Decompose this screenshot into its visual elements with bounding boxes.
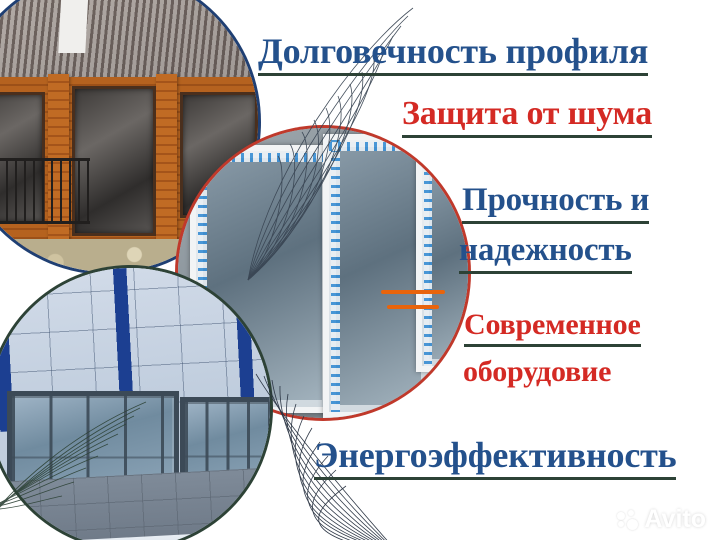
slogan-strength: Прочность и [462, 184, 649, 224]
slogan-underline [462, 221, 649, 224]
slogan-modern: Современное [464, 310, 641, 347]
log-corner-post [156, 74, 177, 248]
veka-protective-film [424, 163, 432, 366]
advertisement-poster: Долговечность профиля Защита от шума Про… [0, 0, 720, 540]
slogan-underline [402, 135, 652, 138]
veka-protective-film [331, 140, 340, 413]
veka-protective-film [196, 153, 329, 162]
avito-watermark-label: Avito [644, 507, 706, 532]
slogan-durability-text: Долговечность профиля [258, 31, 648, 71]
slogan-reliability: надежность [459, 234, 632, 274]
orange-strap [381, 290, 445, 294]
orange-strap [387, 305, 439, 309]
slogan-equipment: оборудовие [463, 357, 611, 388]
slogan-underline [459, 271, 632, 274]
slogan-underline [258, 73, 648, 76]
slogan-modern-text: Современное [464, 308, 641, 341]
slogan-underline [314, 477, 676, 480]
window-glass [336, 147, 421, 406]
veka-protective-film [329, 142, 428, 151]
slogan-energy-efficiency-text: Энергоэффективность [314, 435, 676, 475]
balcony-railing [0, 158, 90, 224]
avito-dots-icon [617, 510, 639, 530]
avito-watermark: Avito [617, 507, 706, 532]
slogan-energy-efficiency: Энергоэффективность [314, 437, 676, 480]
facade-scene [0, 268, 270, 540]
slogan-noise-protection: Защита от шума [402, 97, 652, 138]
slogan-reliability-text: надежность [459, 232, 632, 268]
photo-circle-facade [0, 268, 270, 540]
slogan-durability: Долговечность профиля [258, 33, 648, 76]
slogan-equipment-text: оборудовие [463, 355, 611, 388]
slogan-noise-protection-text: Защита от шума [402, 95, 652, 132]
roof-ridge [58, 0, 88, 53]
slogan-underline [464, 344, 641, 347]
slogan-strength-text: Прочность и [462, 182, 649, 218]
